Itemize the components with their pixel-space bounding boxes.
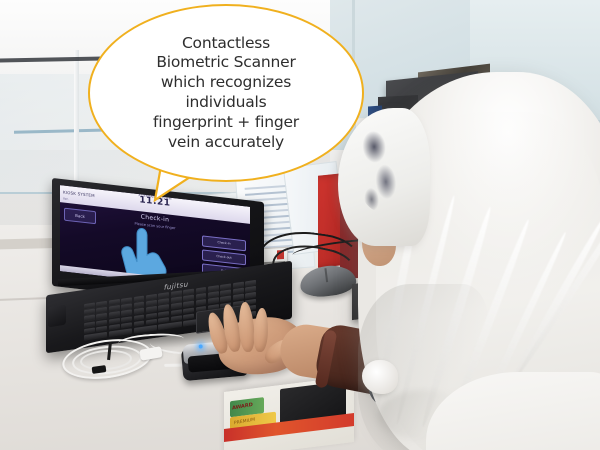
- laptop-foot: [48, 304, 66, 327]
- screen-version: Ver.: [63, 197, 69, 202]
- glass-partition-post: [74, 50, 79, 198]
- speech-bubble-text: Contactless Biometric Scanner which reco…: [137, 34, 315, 153]
- speech-bubble: Contactless Biometric Scanner which reco…: [88, 4, 364, 182]
- screen-button-checkin[interactable]: Check-in: [202, 235, 246, 251]
- screen-button-checkout[interactable]: Check-out: [202, 249, 246, 265]
- photo-scene: A4 KIOSK SYSTEM ATTENDANCE SYSTEM 11:21 …: [0, 0, 600, 450]
- screen-clock: 11:21: [139, 195, 170, 209]
- person-in-hijab: [318, 72, 600, 450]
- hijab-knot: [362, 360, 398, 394]
